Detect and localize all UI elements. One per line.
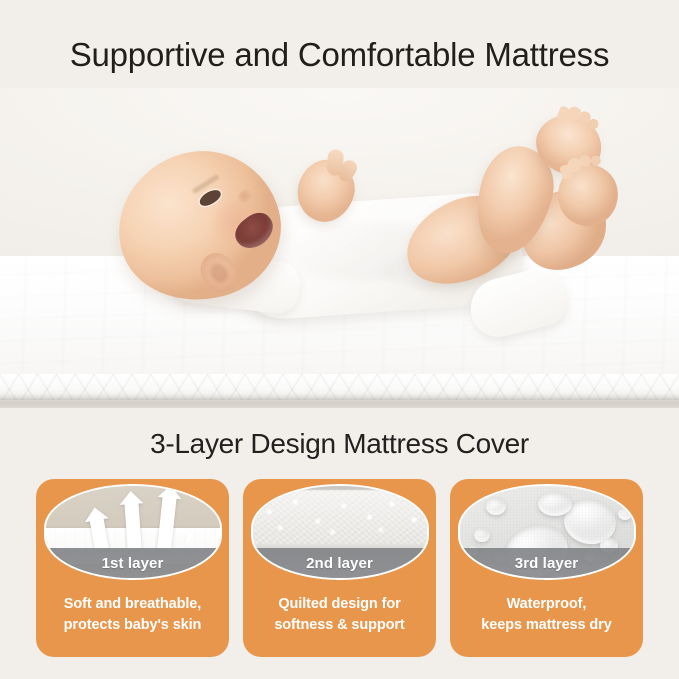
feature-card-1st-layer: 1st layer Soft and breathable, protects … — [36, 479, 229, 657]
card-media-1: 1st layer — [44, 484, 222, 580]
water-droplet — [474, 528, 490, 542]
caption-line-2: protects baby's skin — [42, 615, 224, 636]
caption-line-1: Soft and breathable, — [64, 596, 201, 612]
water-droplet — [560, 496, 619, 548]
mattress-quilted-edge — [0, 374, 679, 400]
water-droplet — [618, 508, 632, 520]
layer-label-1: 1st layer — [46, 548, 220, 578]
layer-label-2: 2nd layer — [253, 548, 427, 578]
hero-image — [0, 88, 679, 408]
mattress-shadow — [0, 400, 679, 408]
card-caption-1: Soft and breathable, protects baby's ski… — [42, 594, 224, 635]
card-caption-2: Quilted design for softness & support — [249, 594, 431, 635]
feature-card-2nd-layer: 2nd layer Quilted design for softness & … — [243, 479, 436, 657]
card-caption-3: Waterproof, keeps mattress dry — [456, 594, 638, 635]
card-media-2: 2nd layer — [251, 484, 429, 580]
feature-card-3rd-layer: 3rd layer Waterproof, keeps mattress dry — [450, 479, 643, 657]
airflow-arrow-icon — [124, 500, 141, 551]
feature-card-list: 1st layer Soft and breathable, protects … — [36, 479, 643, 657]
page-title: Supportive and Comfortable Mattress — [0, 36, 679, 74]
caption-line-2: softness & support — [249, 615, 431, 636]
baby-ear — [193, 246, 244, 298]
section-subtitle: 3-Layer Design Mattress Cover — [0, 428, 679, 460]
fiber-texture — [251, 490, 429, 544]
card-media-3: 3rd layer — [458, 484, 636, 580]
caption-line-1: Quilted design for — [278, 596, 400, 612]
layer-label-3: 3rd layer — [460, 548, 634, 578]
water-droplet — [486, 498, 506, 515]
infographic-page: Supportive and Comfortable Mattress — [0, 0, 679, 679]
baby-photo-subject — [0, 88, 679, 408]
caption-line-2: keeps mattress dry — [456, 615, 638, 636]
baby-toes — [556, 101, 606, 137]
caption-line-1: Waterproof, — [507, 596, 587, 612]
water-droplet — [538, 492, 572, 516]
